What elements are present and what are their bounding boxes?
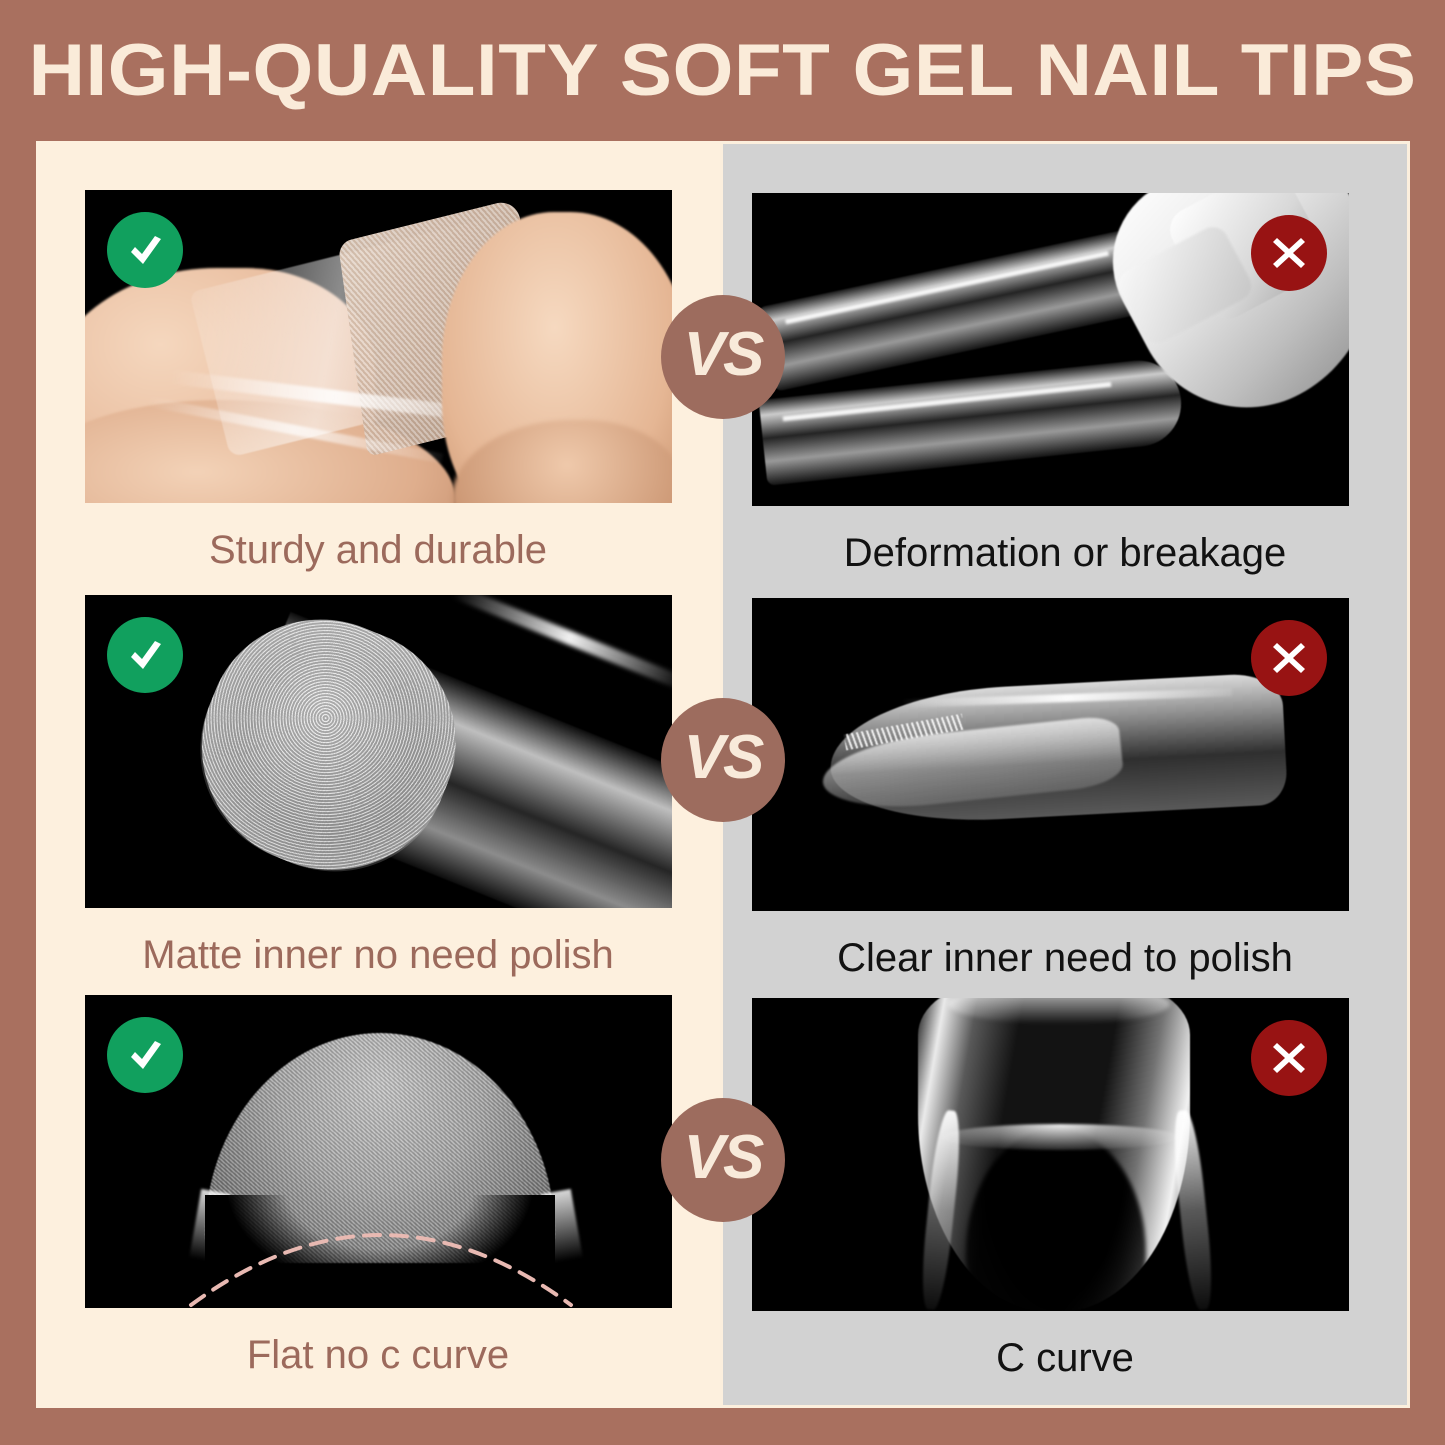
check-icon (107, 1017, 183, 1093)
caption-flat-no-c-curve: Flat no c curve (36, 1308, 720, 1377)
photo-sturdy-and-durable (85, 190, 672, 503)
dashed-curve-reference (181, 1145, 581, 1308)
check-icon (107, 617, 183, 693)
caption-sturdy-and-durable: Sturdy and durable (36, 503, 720, 572)
vs-label: VS (684, 324, 763, 386)
cross-icon (1251, 620, 1327, 696)
comparison-row-1-good: Sturdy and durable (36, 190, 720, 572)
title-bar: HIGH-QUALITY SOFT GEL NAIL TIPS (0, 0, 1445, 140)
cross-icon (1251, 1020, 1327, 1096)
photo-flat-no-c-curve (85, 995, 672, 1308)
cross-icon (1251, 215, 1327, 291)
check-icon (107, 212, 183, 288)
photo-matte-inner (85, 595, 672, 908)
caption-clear-inner: Clear inner need to polish (723, 911, 1407, 980)
bad-panel: Deformation or breakage (720, 141, 1410, 1408)
good-panel: Sturdy and durable (36, 141, 720, 1408)
comparison-row-2-bad: Clear inner need to polish (723, 598, 1407, 980)
vs-badge-row-2: VS (661, 698, 785, 822)
shaft-highlight (451, 595, 672, 691)
comparison-row-2-good: Matte inner no need polish (36, 595, 720, 977)
comparison-row-3-good: Flat no c curve (36, 995, 720, 1377)
caption-c-curve: C curve (723, 1311, 1407, 1380)
c-curve-right-rim (1170, 1109, 1217, 1311)
photo-deformation-or-breakage (752, 193, 1349, 506)
photo-clear-inner (752, 598, 1349, 911)
poster-root: HIGH-QUALITY SOFT GEL NAIL TIPS (0, 0, 1445, 1445)
vs-label: VS (684, 1127, 763, 1189)
caption-matte-inner: Matte inner no need polish (36, 908, 720, 977)
photo-c-curve (752, 998, 1349, 1311)
vs-badge-row-3: VS (661, 1098, 785, 1222)
caption-deformation-or-breakage: Deformation or breakage (723, 506, 1407, 575)
comparison-row-3-bad: C curve (723, 998, 1407, 1380)
page-title: HIGH-QUALITY SOFT GEL NAIL TIPS (29, 34, 1417, 107)
vs-label: VS (684, 727, 763, 789)
comparison-row-1-bad: Deformation or breakage (723, 193, 1407, 575)
vs-badge-row-1: VS (661, 295, 785, 419)
c-curve-lip-highlight (942, 1124, 1178, 1150)
